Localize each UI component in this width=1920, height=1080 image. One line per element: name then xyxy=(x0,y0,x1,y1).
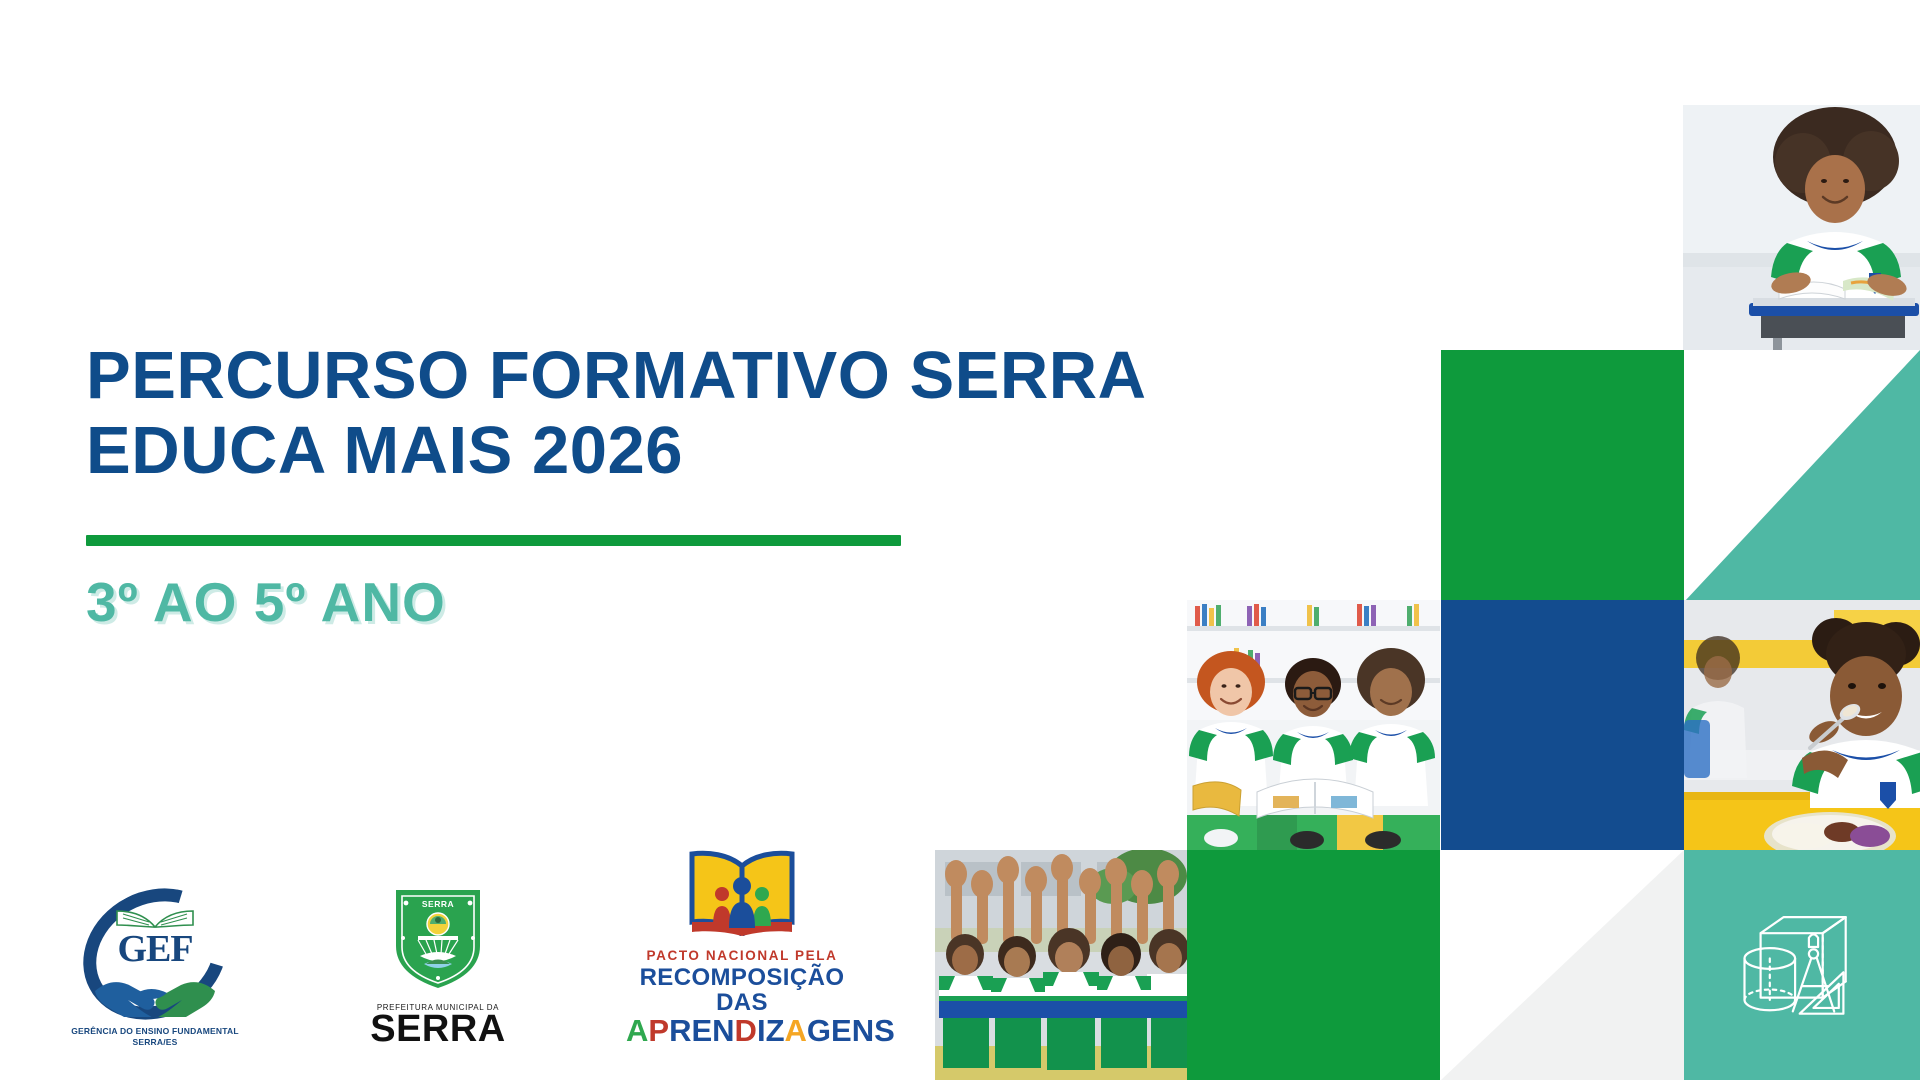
title-divider xyxy=(86,535,901,546)
handshake-book-icon: GEF xyxy=(75,887,235,1022)
slide-subtitle: 3º AO 5º ANO xyxy=(86,570,446,634)
photo-three-children-reading xyxy=(1187,600,1440,852)
block-deep-blue xyxy=(1441,600,1684,852)
open-book-people-icon xyxy=(682,848,802,936)
gef-logo: GEF GERÊNCIA DO ENSINO FUNDAMENTAL SERRA… xyxy=(60,887,250,1048)
gef-caption: GERÊNCIA DO ENSINO FUNDAMENTAL SERRA/ES xyxy=(60,1026,250,1048)
block-green-bottom xyxy=(1187,850,1440,1080)
title-block: PERCURSO FORMATIVO SERRA EDUCA MAIS 2026 xyxy=(86,338,1406,488)
photo-girl-reading-desk xyxy=(1683,105,1920,353)
gef-caption-line1: GERÊNCIA DO ENSINO FUNDAMENTAL xyxy=(60,1026,250,1037)
pacto-line3: APRENDIZAGENS xyxy=(626,1015,858,1048)
pacto-line1: PACTO NACIONAL PELA xyxy=(626,948,858,963)
page-title: PERCURSO FORMATIVO SERRA EDUCA MAIS 2026 xyxy=(86,338,1406,488)
geometry-tools-icon xyxy=(1733,901,1871,1039)
block-geometry-icon xyxy=(1684,850,1920,1080)
green-shield-crest-icon: SERRA xyxy=(392,886,484,990)
svg-text:SERRA: SERRA xyxy=(422,899,454,909)
pacto-line2: RECOMPOSIÇÃO DAS xyxy=(626,965,858,1015)
photo-girl-eating-meal xyxy=(1684,600,1920,852)
block-green-top xyxy=(1441,350,1684,602)
gef-caption-line2: SERRA/ES xyxy=(60,1037,250,1048)
pacto-aprendizagens-logo: PACTO NACIONAL PELA RECOMPOSIÇÃO DAS APR… xyxy=(626,848,858,1048)
block-teal-triangle xyxy=(1684,350,1920,602)
prefeitura-serra-logo: SERRA PREFEITURA MUNICIPAL DA SERRA xyxy=(358,886,518,1048)
logo-row: GEF GERÊNCIA DO ENSINO FUNDAMENTAL SERRA… xyxy=(60,848,858,1048)
serra-line2: SERRA xyxy=(358,1010,518,1048)
block-grey-triangle xyxy=(1441,850,1684,1080)
slide-content: PERCURSO FORMATIVO SERRA EDUCA MAIS 2026… xyxy=(0,0,1000,1080)
